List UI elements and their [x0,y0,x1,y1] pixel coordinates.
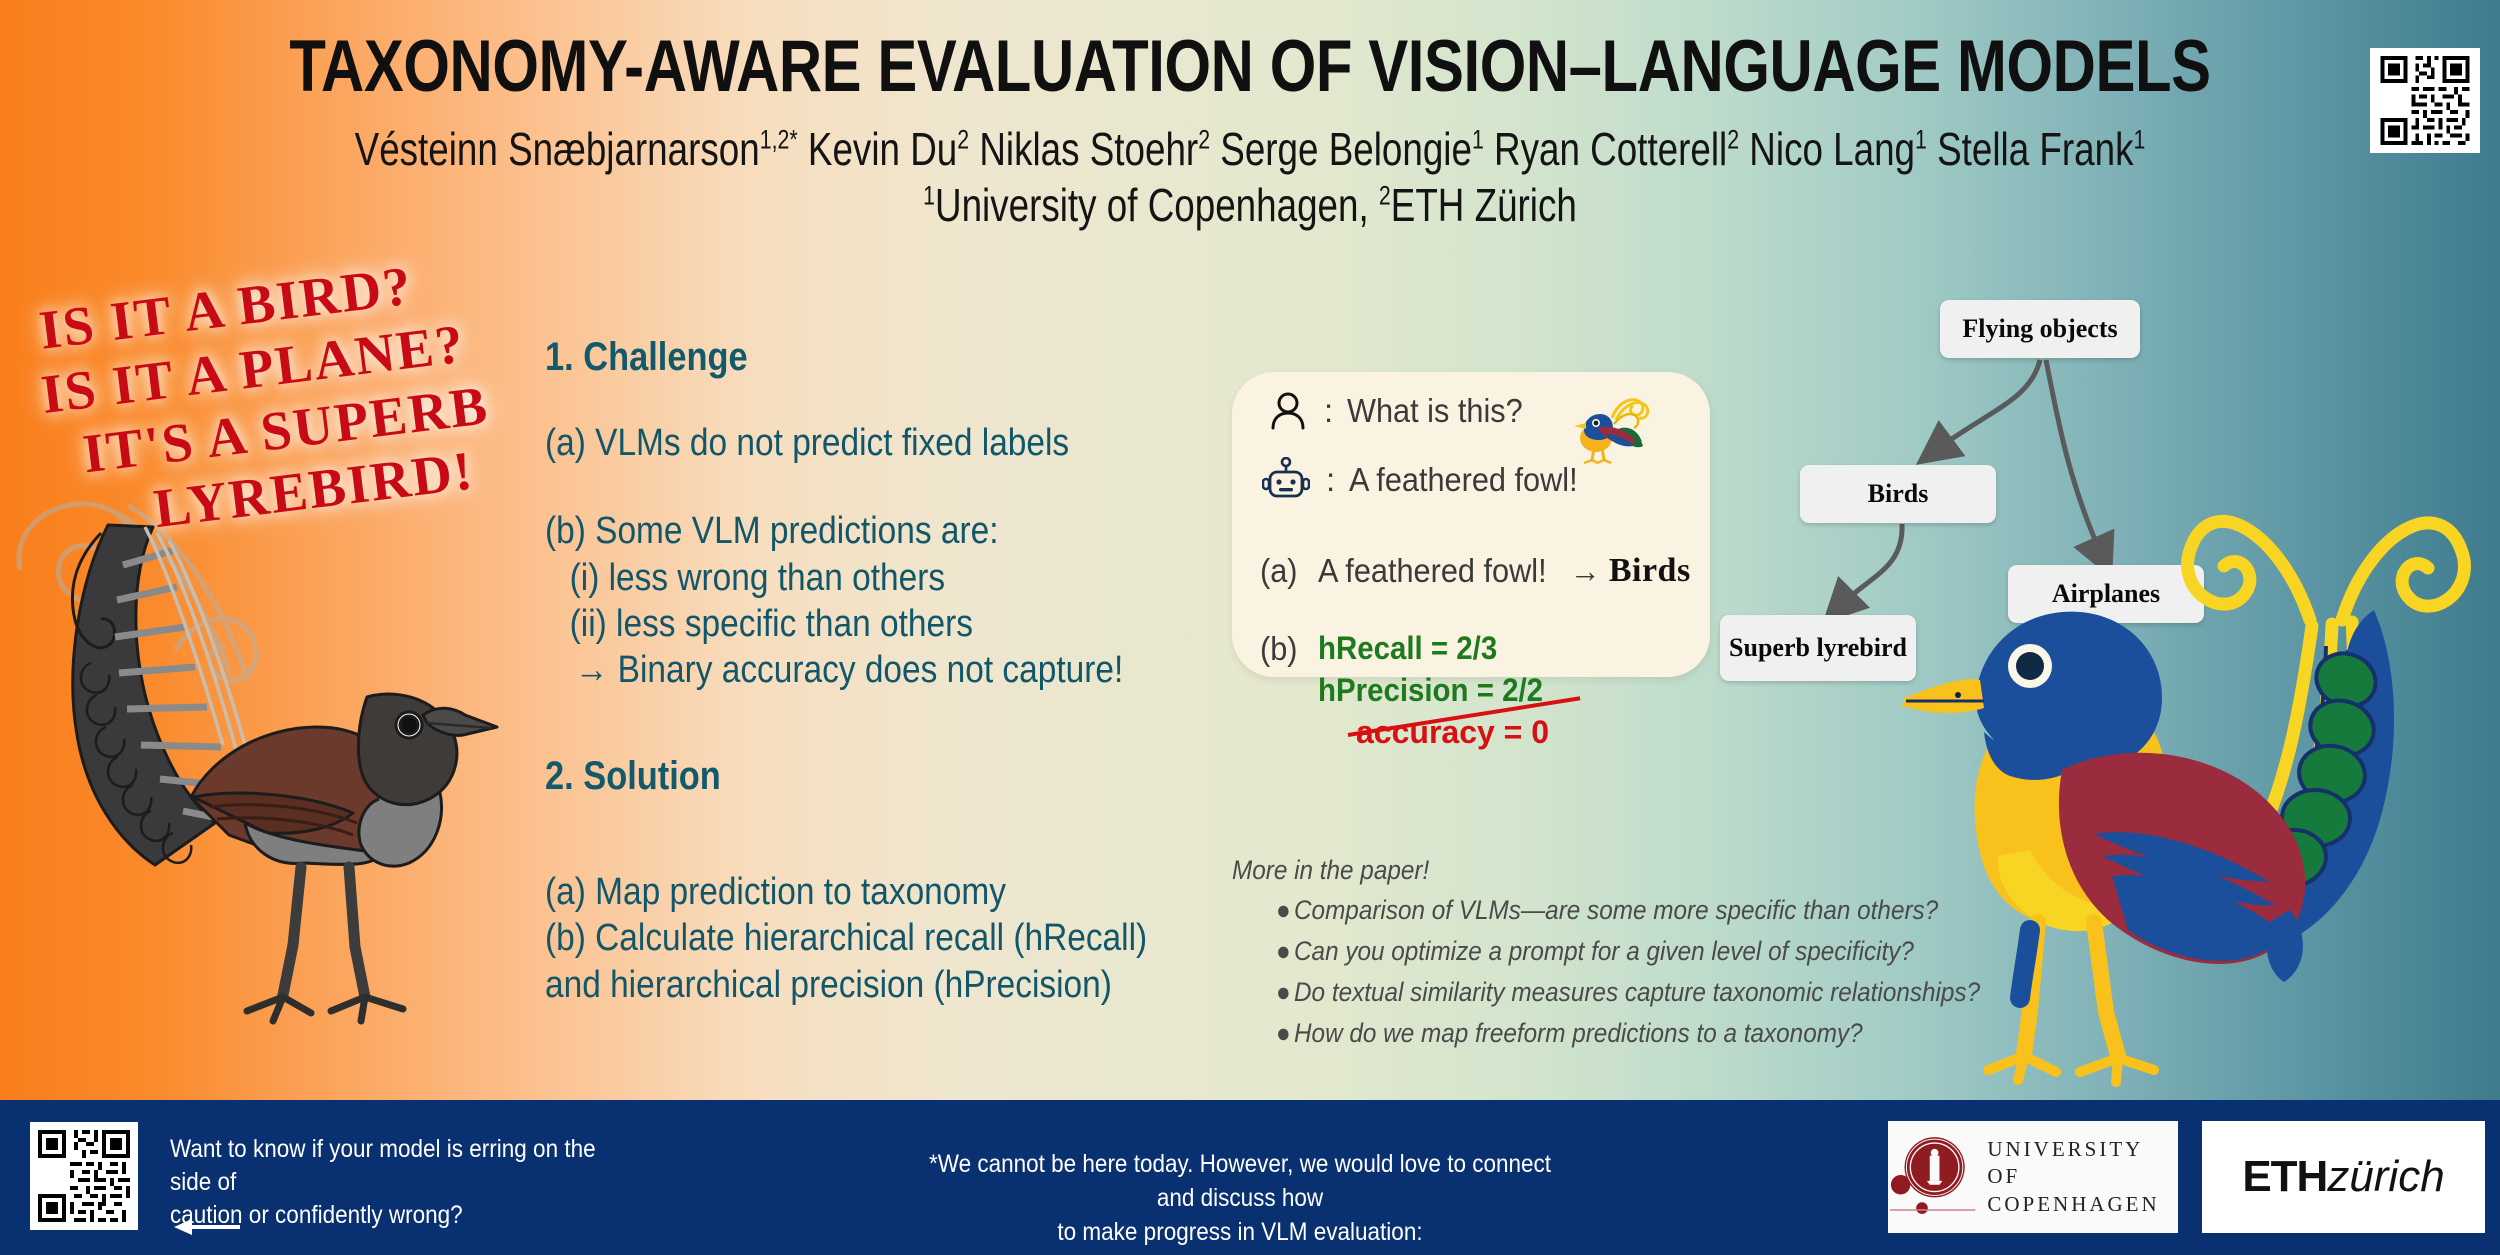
bot-colon: : [1326,461,1335,499]
logo-eth-zurich: ETHzürich [2202,1121,2485,1233]
shout-line-1: IS IT A BIRD? [36,237,554,363]
left-text-column: 1. Challenge (a) VLMs do not predict fix… [545,335,1245,1008]
more-item-text: How do we map freeform predictions to a … [1294,1018,1863,1048]
author-list: Vésteinn Snæbjarnarson1,2* Kevin Du2 Nik… [250,122,2250,176]
more-in-paper-item: ●Can you optimize a prompt for a given l… [1276,936,1938,967]
brown-lyrebird-illustration [5,415,525,1055]
user-question: What is this? [1347,392,1523,430]
accuracy-struck-wrapper: accuracy = 0 [1356,714,1563,751]
more-item-text: Do textual similarity measures capture t… [1294,977,1980,1007]
colorful-lyrebird-illustration [1880,470,2500,1090]
card-row-a: (a) A feathered fowl! → Birds [1260,552,1691,590]
more-item-text: Comparison of VLMs—are some more specifi… [1294,895,1938,925]
challenge-item-b-conclusion: → Binary accuracy does not capture! [545,647,1161,693]
footer-left-line-1: Want to know if your model is erring on … [170,1133,638,1199]
poster-header: TAXONOMY-AWARE EVALUATION OF VISION–LANG… [0,30,2500,232]
more-in-paper-heading: More in the paper! [1232,855,1934,886]
eth-logo-italic: zürich [2327,1152,2444,1202]
card-row-a-target: Birds [1609,552,1691,590]
challenge-item-a: (a) VLMs do not predict fixed labels [545,420,1161,466]
qr-code-icon [2374,52,2476,149]
card-row-bot: : A feathered fowl! [1262,457,1595,503]
affiliation-list: 1University of Copenhagen, 2ETH Zürich [250,178,2250,232]
challenge-item-b-i: (i) less wrong than others [545,555,1161,601]
card-row-b: (b) hRecall = 2/3 hPrecision = 2/2 accur… [1260,630,1563,751]
page-title: TAXONOMY-AWARE EVALUATION OF VISION–LANG… [225,30,2275,104]
card-row-a-text: A feathered fowl! [1318,552,1547,590]
hrecall-value: hRecall = 2/3 [1318,630,1543,667]
bullet-icon: ● [1276,1018,1294,1049]
ku-logo-line-2: COPENHAGEN [1987,1191,2178,1218]
more-in-paper-item: ●Do textual similarity measures capture … [1276,977,1938,1008]
footer-center-line-1: *We cannot be here today. However, we wo… [916,1148,1564,1216]
left-arrow-icon [172,1218,242,1236]
solution-item-a: (a) Map prediction to taxonomy [545,869,1161,915]
map-arrow-icon: → [1570,552,1601,590]
ku-logo-line-1: UNIVERSITY OF [1987,1136,2178,1191]
more-in-paper-item: ●Comparison of VLMs—are some more specif… [1276,895,1938,926]
logo-university-of-copenhagen: UNIVERSITY OF COPENHAGEN [1888,1121,2178,1233]
footer-center-line-2: to make progress in VLM evaluation: vest… [916,1216,1564,1255]
card-row-a-label: (a) [1260,552,1314,590]
challenge-item-b: (b) Some VLM predictions are: [545,508,1161,554]
challenge-heading: 1. Challenge [545,335,1147,380]
eth-logo-bold: ETH [2242,1152,2327,1202]
qr-code-icon [34,1126,134,1226]
bot-answer: A feathered fowl! [1349,461,1578,499]
footer-center-text: *We cannot be here today. However, we wo… [916,1148,1564,1255]
bullet-icon: ● [1276,977,1294,1008]
user-icon [1268,390,1308,432]
taxonomy-node-flying-objects[interactable]: Flying objects [1940,300,2140,358]
solution-item-b-cont: and hierarchical precision (hPrecision) [545,962,1161,1008]
more-in-paper-item: ●How do we map freeform predictions to a… [1276,1018,1938,1049]
solution-item-b: (b) Calculate hierarchical recall (hReca… [545,915,1161,961]
challenge-item-b-ii: (ii) less specific than others [545,601,1161,647]
qr-code-paper[interactable] [2370,48,2480,153]
example-dialogue-card: : What is this? [1232,372,1710,677]
solution-heading: 2. Solution [545,754,1147,799]
footer-bar: Want to know if your model is erring on … [0,1100,2500,1255]
user-colon: : [1324,392,1333,430]
ku-logo-text: UNIVERSITY OF COPENHAGEN [1987,1136,2178,1218]
qr-code-footer[interactable] [30,1122,138,1230]
bullet-icon: ● [1276,936,1294,967]
robot-icon [1262,457,1310,503]
card-row-b-label: (b) [1260,630,1314,668]
bullet-icon: ● [1276,895,1294,926]
more-item-text: Can you optimize a prompt for a given le… [1294,936,1914,966]
shout-line-2: IS IT A PLANE? [38,300,562,427]
ku-seal-icon [1888,1127,1977,1227]
poster-root: TAXONOMY-AWARE EVALUATION OF VISION–LANG… [0,0,2500,1255]
card-row-user: : What is this? [1268,390,1536,432]
hprecision-value: hPrecision = 2/2 [1318,672,1543,709]
